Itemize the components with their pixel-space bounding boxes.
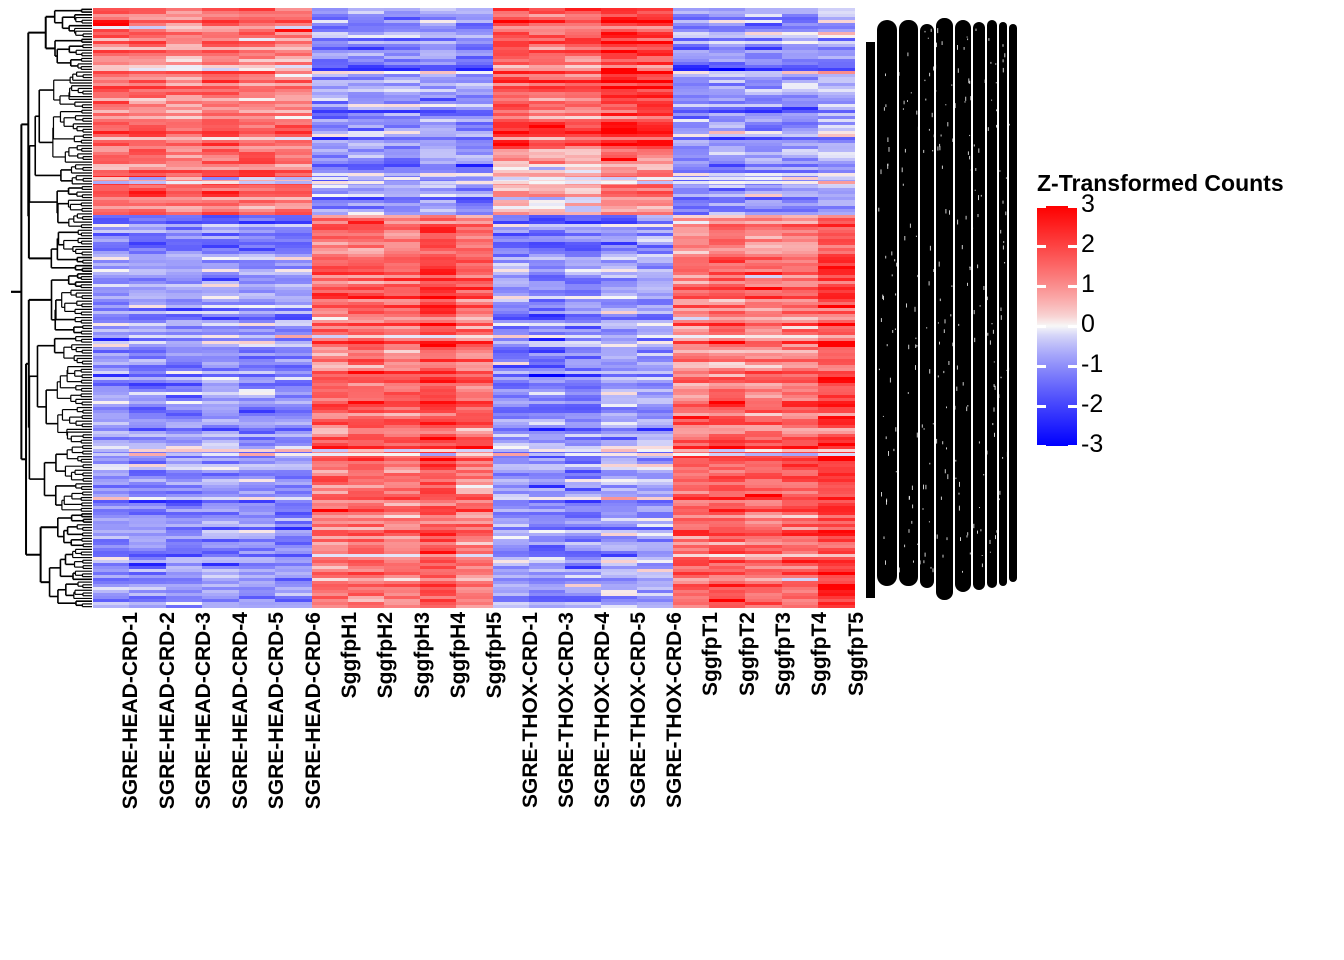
colorbar-tick-left [1037,245,1046,248]
column-label-sgre-head-crd-2: SGRE-HEAD-CRD-2 [157,612,178,809]
column-labels: SGRE-HEAD-CRD-1SGRE-HEAD-CRD-2SGRE-HEAD-… [93,612,855,952]
colorbar-tick-right [1068,365,1077,368]
column-label-sggfpt3: SggfpT3 [773,612,794,696]
column-label-sgre-head-crd-6: SGRE-HEAD-CRD-6 [303,612,324,809]
column-label-sgre-head-crd-4: SGRE-HEAD-CRD-4 [230,612,251,809]
colorbar-tick-label: -1 [1081,352,1103,377]
colorbar [1037,206,1077,446]
colorbar-tick-left [1037,205,1046,208]
row-dendrogram-svg [10,8,92,608]
heatmap-figure: SGRE-HEAD-CRD-1SGRE-HEAD-CRD-2SGRE-HEAD-… [0,0,1344,960]
column-label-sgre-thox-crd-4: SGRE-THOX-CRD-4 [592,612,613,808]
column-label-sgre-thox-crd-6: SGRE-THOX-CRD-6 [664,612,685,808]
heatmap-canvas [93,8,855,608]
column-label-sggfph4: SggfpH4 [448,612,469,698]
colorbar-tick-label: -3 [1081,432,1103,457]
column-label-sgre-thox-crd-3: SGRE-THOX-CRD-3 [556,612,577,808]
colorbar-tick-right [1068,405,1077,408]
column-label-sggfpt4: SggfpT4 [809,612,830,696]
colorbar-tick-right [1068,205,1077,208]
column-label-sggfph3: SggfpH3 [412,612,433,698]
colorbar-tick-right [1068,245,1077,248]
column-label-sggfph5: SggfpH5 [484,612,505,698]
column-label-sgre-head-crd-3: SGRE-HEAD-CRD-3 [193,612,214,809]
column-label-sggfph2: SggfpH2 [375,612,396,698]
secondary-dendrogram [866,8,1017,612]
heatmap-matrix [93,8,855,608]
colorbar-tick-left [1037,285,1046,288]
row-dendrogram [10,8,92,608]
column-label-sggfpt5: SggfpT5 [846,612,867,696]
colorbar-tick-label: 1 [1081,272,1095,297]
column-label-sgre-head-crd-1: SGRE-HEAD-CRD-1 [120,612,141,809]
column-label-sgre-thox-crd-5: SGRE-THOX-CRD-5 [628,612,649,808]
colorbar-tick-left [1037,445,1046,448]
column-label-sggfph1: SggfpH1 [339,612,360,698]
colorbar-tick-label: 3 [1081,192,1095,217]
column-label-sgre-head-crd-5: SGRE-HEAD-CRD-5 [266,612,287,809]
secondary-dendrogram-svg [866,8,1017,612]
colorbar-tick-label: -2 [1081,392,1103,417]
legend: Z-Transformed Counts 3210-1-2-3 [1035,170,1335,460]
colorbar-tick-label: 0 [1081,312,1095,337]
column-label-sggfpt1: SggfpT1 [700,612,721,696]
colorbar-tick-right [1068,325,1077,328]
legend-title: Z-Transformed Counts [1037,170,1284,197]
column-label-sgre-thox-crd-1: SGRE-THOX-CRD-1 [520,612,541,808]
colorbar-tick-label: 2 [1081,232,1095,257]
colorbar-tick-left [1037,365,1046,368]
colorbar-tick-left [1037,325,1046,328]
colorbar-tick-left [1037,405,1046,408]
colorbar-tick-right [1068,285,1077,288]
column-label-sggfpt2: SggfpT2 [737,612,758,696]
colorbar-tick-right [1068,445,1077,448]
